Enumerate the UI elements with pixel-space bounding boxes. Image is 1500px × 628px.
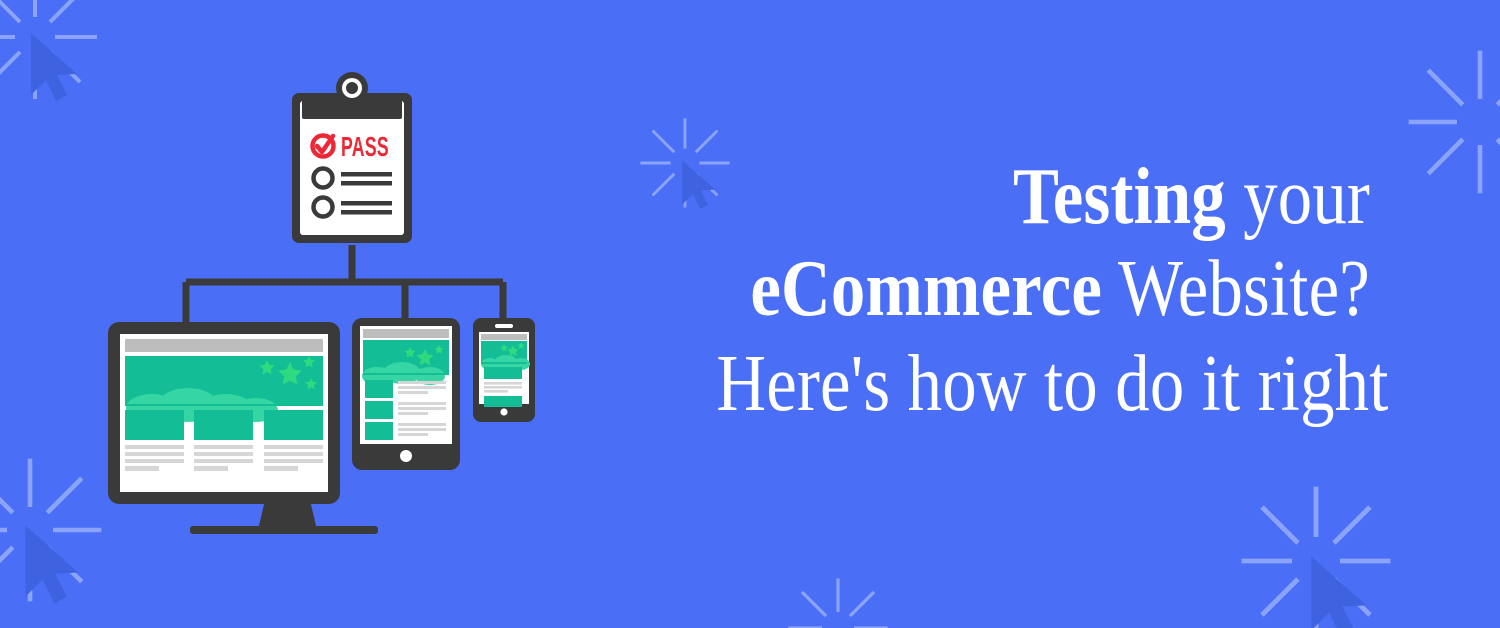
tablet-home-button[interactable] [400, 450, 412, 462]
headline: Testing your eCommerce Website? Here's h… [610, 155, 1370, 428]
headline-line-1: Testing your [716, 155, 1370, 241]
headline-line-2-bold: eCommerce [750, 245, 1102, 333]
smartphone [473, 318, 535, 422]
desktop-monitor [108, 322, 378, 534]
click-burst-bottom-center [788, 578, 887, 628]
pass-label: PASS [341, 131, 389, 162]
devices-illustration: PASS [80, 60, 580, 560]
tablet [352, 318, 460, 470]
phone-speaker [495, 324, 513, 328]
connector-tree [186, 245, 503, 322]
clipboard: PASS [292, 72, 412, 243]
click-burst-top-right [1409, 51, 1500, 194]
pass-status: PASS [313, 131, 390, 162]
headline-line-1-bold: Testing [1013, 153, 1226, 241]
headline-line-1-rest: your [1226, 153, 1370, 241]
headline-line-2-rest: Website? [1102, 245, 1370, 333]
click-burst-bottom-right [1242, 487, 1391, 628]
banner-root: PASS [0, 0, 1500, 628]
headline-line-2: eCommerce Website? [716, 247, 1370, 333]
headline-line-3: Here's how to do it right [716, 342, 1370, 428]
phone-home-button[interactable] [500, 408, 507, 415]
